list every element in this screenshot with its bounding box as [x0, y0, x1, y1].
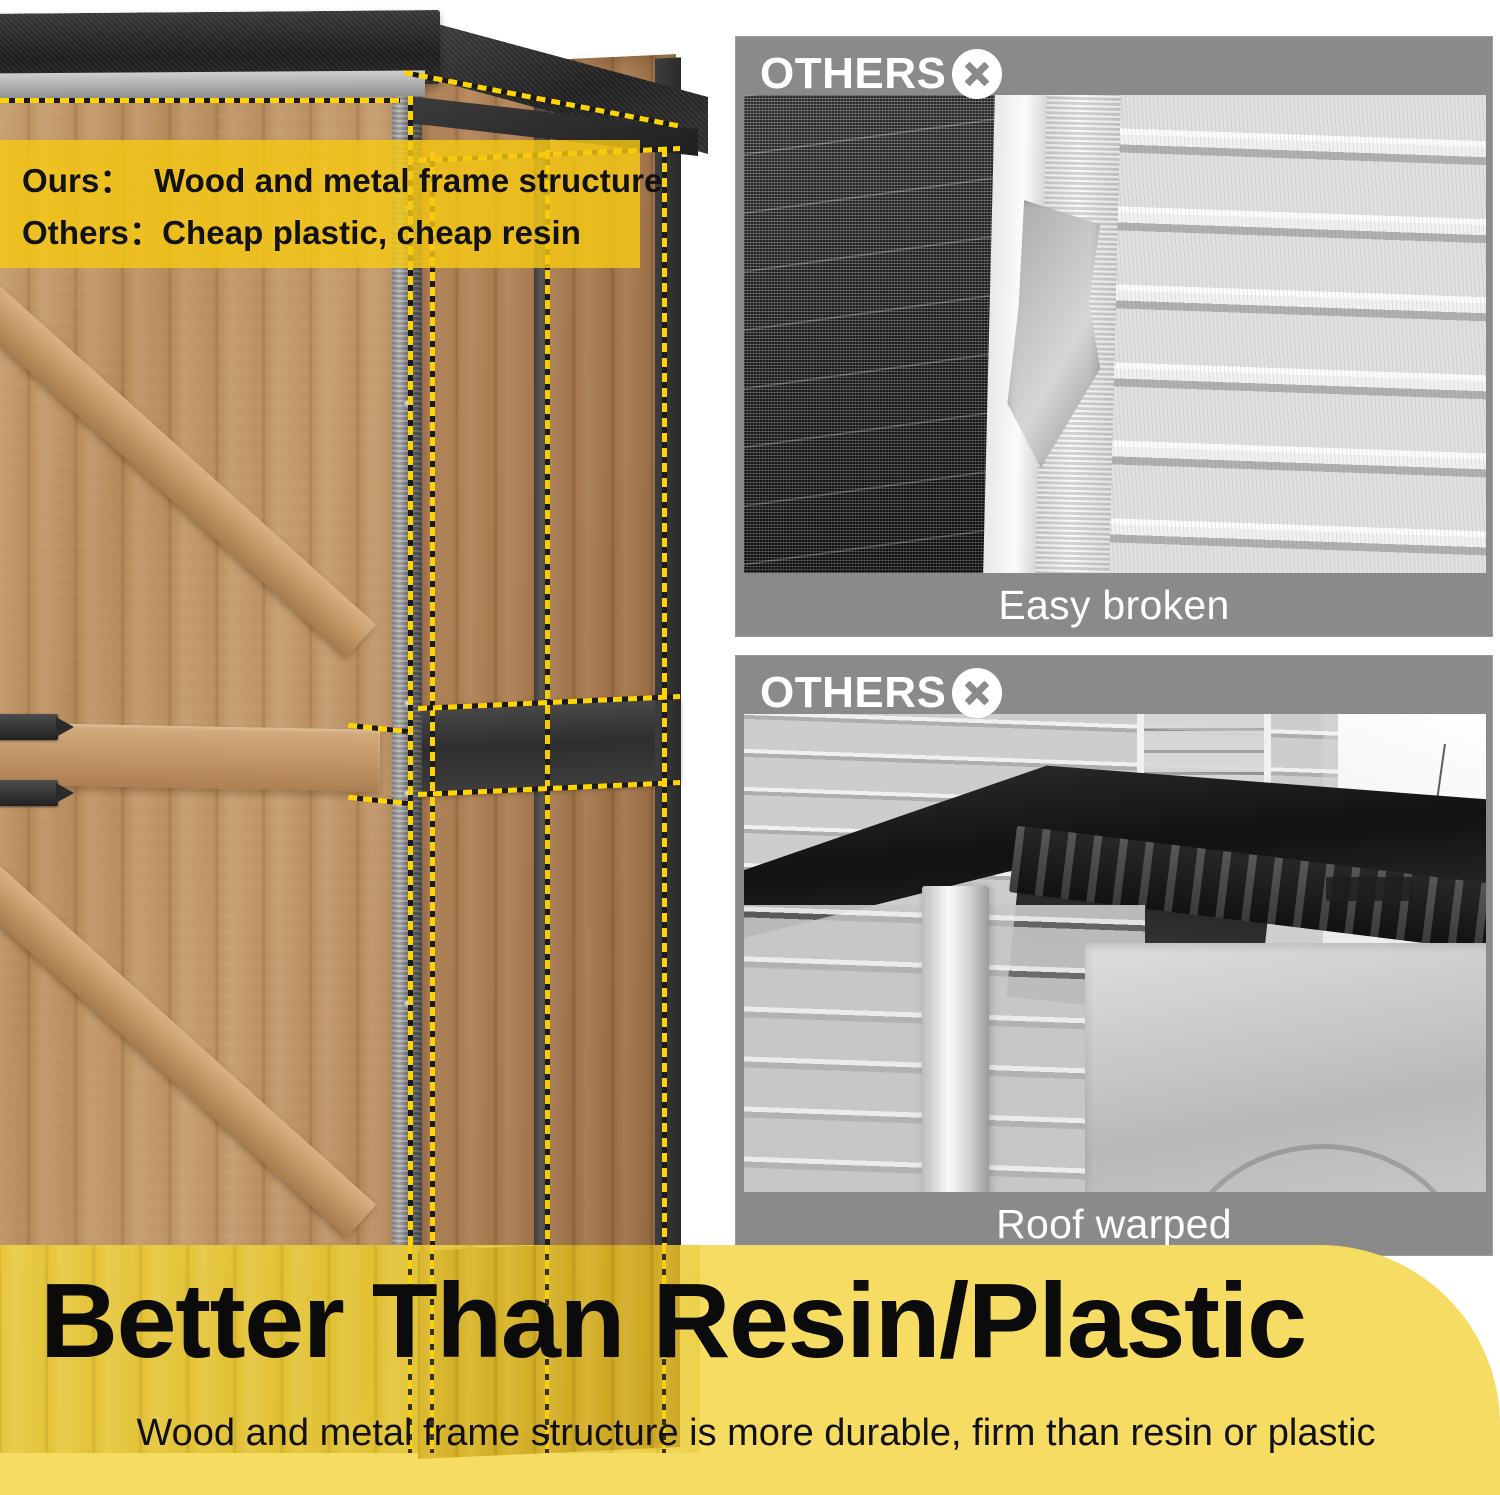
- door-hinge-upper: [0, 714, 58, 740]
- photo-warped-plastic-roof: [744, 714, 1486, 1192]
- photo-shed-door: [1085, 943, 1486, 1192]
- banner-headline: Better Than Resin/Plastic: [40, 1268, 1488, 1374]
- door-hinge-lower: [0, 780, 58, 806]
- comparison-panel-roof-warped: OTHERS Roof warped: [735, 655, 1493, 1256]
- others-badge: OTHERS: [756, 45, 1010, 103]
- banner-subline: Wood and metal frame structure is more d…: [36, 1412, 1476, 1455]
- ours-vs-others-callout: Ours：Wood and metal frame structure Othe…: [0, 140, 640, 268]
- x-circle-icon: [952, 49, 1002, 99]
- infographic-canvas: Ours：Wood and metal frame structure Othe…: [0, 0, 1500, 1495]
- photo-brand-logo: [1326, 877, 1412, 901]
- photo-siding-panels: [1100, 95, 1486, 573]
- photo-cracked-plastic-siding: [744, 95, 1486, 573]
- shed-roof-metal-fascia: [0, 70, 425, 99]
- photo-shed-corner-post: [922, 886, 989, 1192]
- others-badge-label: OTHERS: [760, 671, 946, 715]
- others-badge-label: OTHERS: [760, 52, 946, 96]
- callout-value-ours: Wood and metal frame structure: [154, 162, 663, 199]
- callout-label-others: Others：: [22, 206, 162, 254]
- panel-caption-easy-broken: Easy broken: [736, 574, 1492, 636]
- others-badge: OTHERS: [756, 664, 1010, 722]
- x-circle-icon: [952, 668, 1002, 718]
- callout-line-others: Others：Cheap plastic, cheap resin: [22, 206, 640, 254]
- product-photo: Ours：Wood and metal frame structure Othe…: [0, 0, 722, 1460]
- frame-highlight-dash: [408, 96, 413, 1446]
- callout-label-ours: Ours：: [22, 154, 154, 202]
- comparison-panel-easy-broken: OTHERS Easy broken: [735, 36, 1493, 637]
- photo-mesh-background: [744, 95, 1011, 573]
- callout-value-others: Cheap plastic, cheap resin: [162, 214, 581, 251]
- callout-line-ours: Ours：Wood and metal frame structure: [22, 154, 640, 202]
- frame-highlight-dash: [0, 98, 400, 103]
